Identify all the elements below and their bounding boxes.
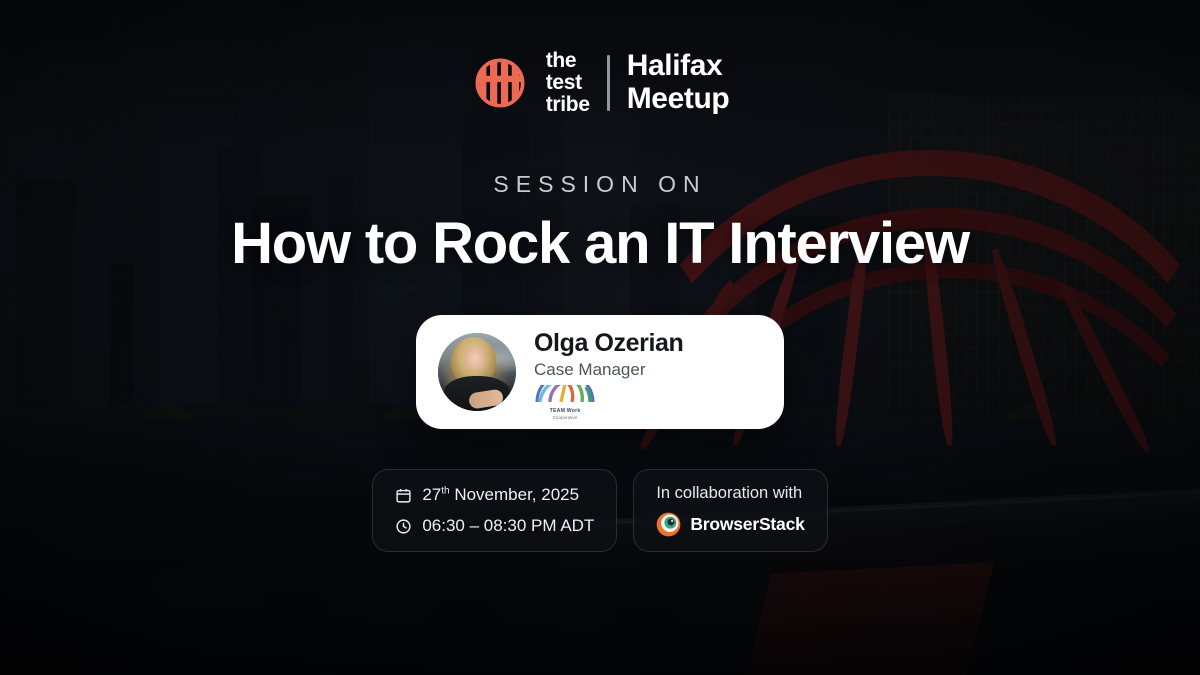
date-line: 27th November, 2025 [395,485,594,505]
partner-brand: BrowserStack [656,512,804,537]
event-info-row: 27th November, 2025 06:30 – 08:30 PM ADT… [372,469,827,552]
event-banner: the test tribe Halifax Meetup SESSION ON… [0,0,1200,675]
chapter-name: Halifax Meetup [627,50,730,115]
date-ordinal: th [441,486,449,497]
session-title: How to Rock an IT Interview [231,210,969,277]
speaker-name: Olga Ozerian [534,329,683,358]
speaker-details: Olga Ozerian Case Manager TEAM Work Coop… [534,329,683,415]
test-tribe-logo-icon [471,54,529,112]
calendar-icon [395,487,412,504]
collaboration-label: In collaboration with [656,484,802,503]
speaker-card: Olga Ozerian Case Manager TEAM Work Coop… [416,315,784,429]
date-day: 27 [422,485,441,504]
speaker-role: Case Manager [534,360,683,380]
collaboration-box: In collaboration with BrowserStack [633,469,827,552]
wordmark-line-2: test [546,72,590,94]
time-line: 06:30 – 08:30 PM ADT [395,516,594,536]
clock-icon [395,518,412,535]
partner-name: BrowserStack [690,514,804,535]
browserstack-logo-icon [656,512,681,537]
wordmark-line-1: the [546,50,590,72]
date-text: 27th November, 2025 [422,485,579,505]
session-eyebrow: SESSION ON [493,171,706,198]
lockup-divider [607,55,610,111]
chapter-line-1: Halifax [627,50,730,82]
date-rest: November, 2025 [450,485,579,504]
chapter-line-2: Meetup [627,83,730,115]
wordmark-line-3: tribe [546,94,590,116]
org-subtitle: Cooperative [534,415,596,421]
time-text: 06:30 – 08:30 PM ADT [422,516,594,536]
test-tribe-wordmark: the test tribe [546,50,590,115]
brand-lockup: the test tribe Halifax Meetup [471,50,730,115]
banner-content: the test tribe Halifax Meetup SESSION ON… [0,0,1200,675]
speaker-photo [438,333,516,411]
team-work-cooperative-logo-icon: TEAM Work Cooperative [534,385,596,415]
datetime-box: 27th November, 2025 06:30 – 08:30 PM ADT [372,469,617,552]
